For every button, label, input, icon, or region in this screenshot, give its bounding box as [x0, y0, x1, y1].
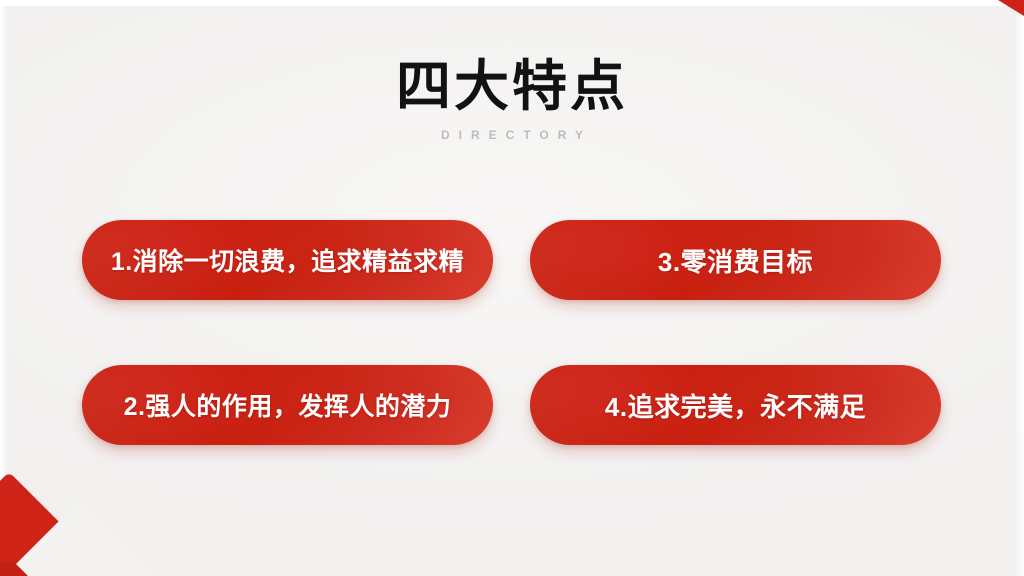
- page-title: 四大特点: [0, 58, 1024, 116]
- list-item[interactable]: 3.零消费目标: [530, 220, 941, 300]
- corner-chevron-icon: [0, 488, 146, 576]
- slide-header: 四大特点 DIRECTORY: [0, 58, 1024, 142]
- list-item-label: 3.零消费目标: [658, 242, 813, 279]
- list-item-label: 2.强人的作用，发挥人的潜力: [124, 387, 452, 423]
- page-subtitle: DIRECTORY: [0, 128, 1024, 142]
- list-item[interactable]: 4.追求完美，永不满足: [530, 365, 941, 445]
- feature-list: 1.消除一切浪费，追求精益求精 3.零消费目标 2.强人的作用，发挥人的潜力 4…: [82, 220, 942, 445]
- list-item[interactable]: 2.强人的作用，发挥人的潜力: [82, 365, 493, 445]
- list-item-label: 1.消除一切浪费，追求精益求精: [111, 242, 464, 278]
- list-item-label: 4.追求完美，永不满足: [605, 387, 866, 424]
- corner-triangle-icon: [998, 0, 1024, 16]
- slide-canvas: 四大特点 DIRECTORY 1.消除一切浪费，追求精益求精 3.零消费目标 2…: [0, 0, 1024, 576]
- top-edge-highlight: [0, 0, 1024, 6]
- list-item[interactable]: 1.消除一切浪费，追求精益求精: [82, 220, 493, 300]
